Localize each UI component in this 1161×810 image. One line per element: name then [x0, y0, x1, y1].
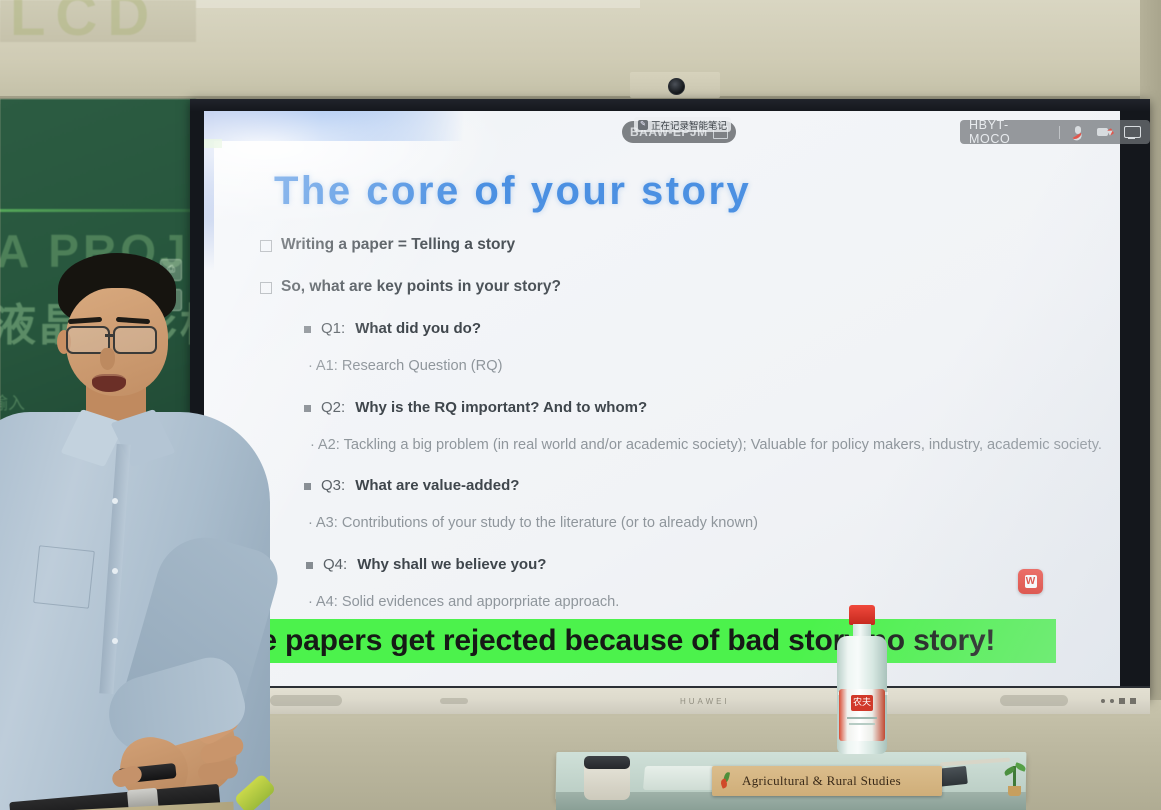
- display-bezel-bottom: HUAWEI: [190, 686, 1150, 714]
- presenter-nose: [100, 348, 115, 370]
- slide-bullet-label: So, what are key points in your story?: [281, 278, 561, 296]
- button-icon[interactable]: [1130, 698, 1136, 704]
- plant-pot: [1008, 786, 1021, 796]
- eyeglasses-lens: [113, 326, 157, 354]
- speaker-grille-right: [1000, 695, 1068, 706]
- slide-answer: ·A4: Solid evidences and apporpriate app…: [260, 591, 1110, 615]
- display-control-buttons[interactable]: [1101, 698, 1136, 704]
- slide-bullet: So, what are key points in your story?: [260, 278, 1110, 296]
- answer-text: A4: Solid evidences and apporpriate appr…: [316, 594, 619, 610]
- slide-question: Q3: What are value-added?: [260, 477, 1110, 494]
- display-bezel-top: [190, 99, 1150, 111]
- square-bullet-icon: [304, 483, 311, 490]
- question-text: Why is the RQ important? And to whom?: [355, 399, 647, 416]
- smart-note-toast: ✎ 正在记录智能笔记: [634, 117, 731, 132]
- slide-title: The core of your story: [274, 169, 751, 214]
- button-icon[interactable]: [1119, 698, 1125, 704]
- slide-body: Writing a paper = Telling a story So, wh…: [260, 236, 1110, 635]
- slide-answer: ·A3: Contributions of your study to the …: [260, 512, 1110, 536]
- slide-bullet-label: Writing a paper = Telling a story: [281, 236, 515, 254]
- shirt-button: [112, 498, 118, 504]
- slide-answer: ·A2: Tackling a big problem (in real wor…: [260, 434, 1110, 458]
- slide-question: Q1: What did you do?: [260, 320, 1110, 337]
- presentation-slide[interactable]: The core of your story Writing a paper =…: [204, 111, 1120, 687]
- display-brand-logo: HUAWEI: [680, 697, 730, 706]
- presenter-mouth: [92, 374, 126, 392]
- slide-bullet: Writing a paper = Telling a story: [260, 236, 1110, 254]
- presenter: [0, 248, 290, 810]
- small-plant: [1002, 762, 1028, 796]
- display-top-plate: [630, 72, 720, 98]
- share-screen-icon[interactable]: [1123, 125, 1141, 139]
- dot-bullet-icon: ·: [308, 594, 313, 610]
- wps-app-icon[interactable]: W: [1018, 569, 1043, 594]
- webcam-lens-icon: [668, 78, 685, 95]
- bottle-brand-mark: 农夫: [851, 695, 873, 711]
- shirt-pocket: [33, 545, 95, 609]
- water-bottle: 农夫: [836, 605, 888, 755]
- coffee-cup-lid: [584, 756, 630, 769]
- mic-muted-icon[interactable]: [1069, 125, 1087, 139]
- speaker-grille-center: [440, 698, 468, 704]
- slide-highlight-banner: More papers get rejected because of bad …: [204, 619, 1056, 663]
- projector-screen-scanline: [0, 209, 196, 212]
- eyeglasses-bridge: [105, 334, 114, 337]
- dot-bullet-icon: ·: [308, 358, 313, 374]
- slide-answer: ·A1: Research Question (RQ): [260, 355, 1110, 379]
- answer-text: A3: Contributions of your study to the l…: [316, 515, 758, 531]
- meeting-room-name: HBYT-MOCO: [969, 118, 1050, 146]
- plant-leaf: [1014, 762, 1026, 772]
- leaf-logo-icon: [720, 772, 737, 790]
- answer-text: A1: Research Question (RQ): [316, 358, 503, 374]
- lecture-room-photo: A PROJECTOR 液晶投影机 未输入 ⎙ ☰ LCD The core o…: [0, 0, 1161, 810]
- camera-muted-icon[interactable]: [1096, 125, 1114, 139]
- slide-question: Q2: Why is the RQ important? And to whom…: [260, 399, 1110, 416]
- desk-nameplate-text: Agricultural & Rural Studies: [742, 773, 901, 789]
- dot-bullet-icon: ·: [308, 515, 313, 531]
- projector-screen-text-top: LCD: [10, 0, 159, 49]
- bottle-cap: [849, 605, 875, 625]
- shirt-button: [112, 568, 118, 574]
- sensor-icon: [1110, 699, 1114, 703]
- note-icon: ✎: [638, 120, 648, 130]
- question-text: Why shall we believe you?: [357, 556, 546, 573]
- smartboard-display: The core of your story Writing a paper =…: [190, 99, 1150, 699]
- question-label: Q4:: [323, 556, 347, 573]
- square-bullet-icon: [304, 326, 311, 333]
- divider: [1059, 126, 1060, 139]
- square-bullet-icon: [306, 562, 313, 569]
- square-bullet-icon: [304, 405, 311, 412]
- power-indicator-icon: [1101, 699, 1105, 703]
- slide-question: Q4: Why shall we believe you?: [260, 556, 1110, 573]
- shirt-button: [112, 638, 118, 644]
- question-label: Q3:: [321, 477, 345, 494]
- question-label: Q1:: [321, 320, 345, 337]
- question-label: Q2:: [321, 399, 345, 416]
- bottle-label: 农夫: [839, 689, 885, 741]
- smart-note-toast-text: 正在记录智能笔记: [651, 118, 727, 132]
- question-text: What are value-added?: [355, 477, 519, 494]
- question-text: What did you do?: [355, 320, 481, 337]
- meeting-status-bar[interactable]: HBYT-MOCO: [960, 120, 1150, 144]
- projector-screen-top-band: LCD: [0, 0, 196, 42]
- wps-app-icon-glyph: W: [1025, 575, 1037, 588]
- desk-nameplate: Agricultural & Rural Studies: [712, 766, 942, 796]
- dot-bullet-icon: ·: [310, 437, 315, 453]
- answer-text: A2: Tackling a big problem (in real worl…: [318, 437, 1102, 453]
